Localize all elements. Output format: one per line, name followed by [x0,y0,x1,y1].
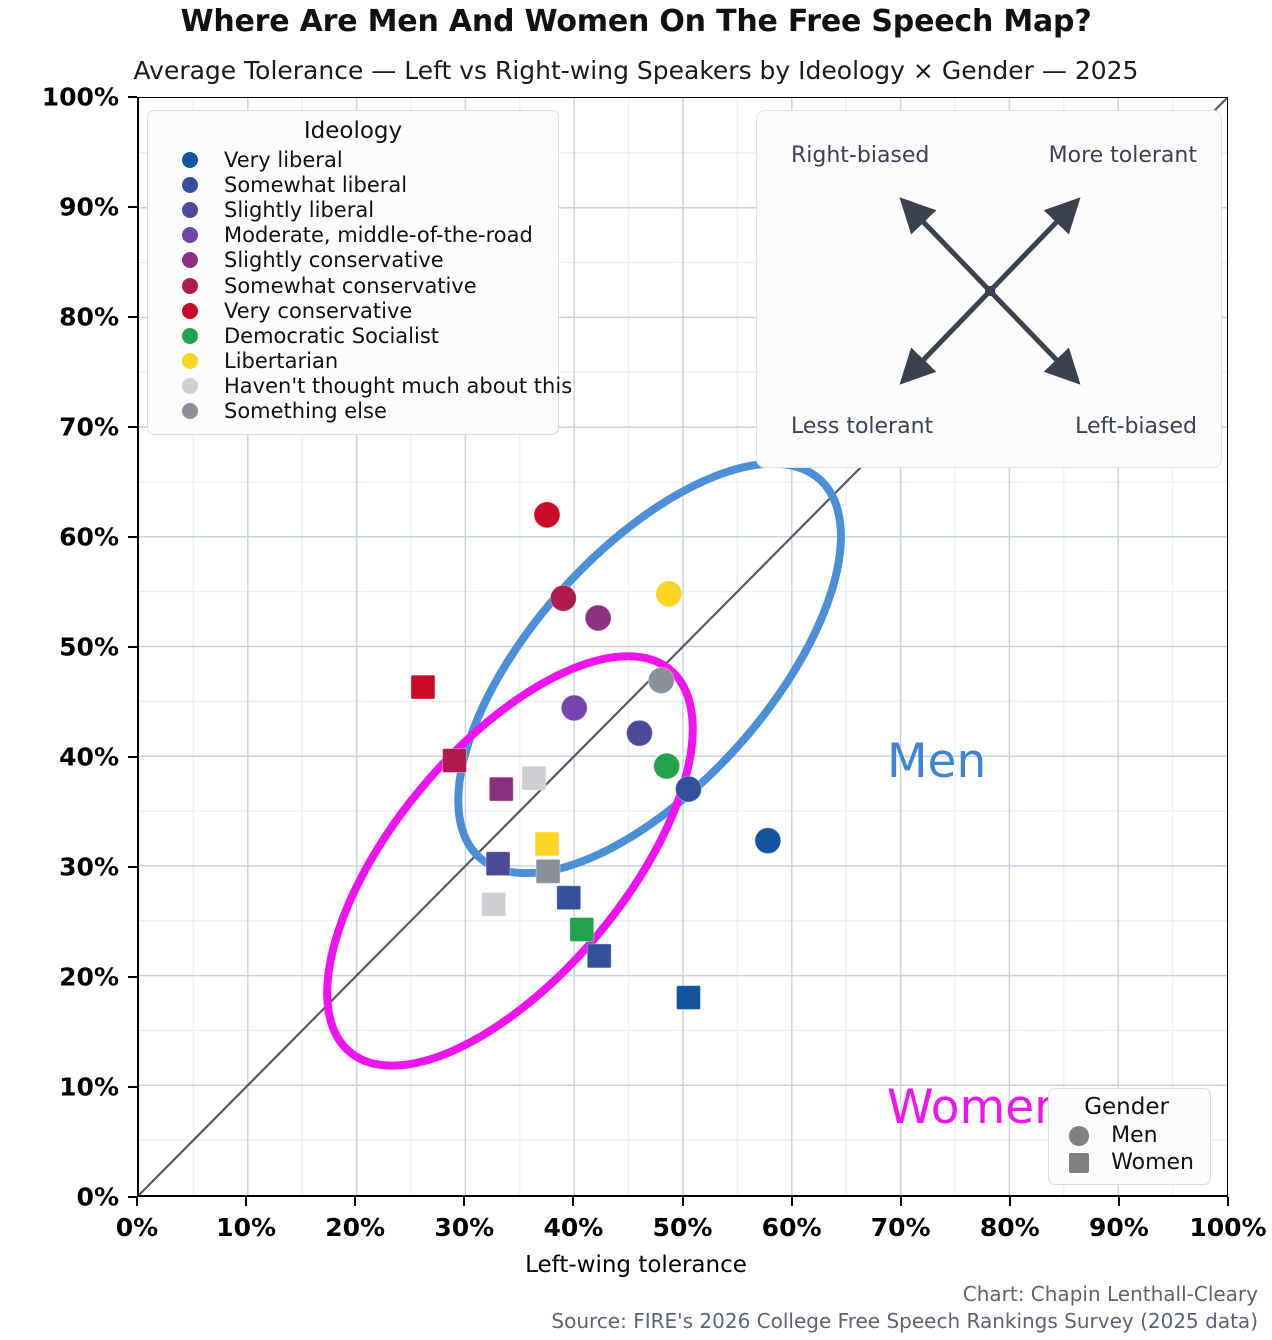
data-point-women[interactable] [443,749,467,773]
legend-ideology-item-label: Libertarian [224,349,338,373]
legend-ideology[interactable]: Ideology Very liberalSomewhat liberalSli… [147,110,559,435]
y-axis-tick-mark [128,646,137,648]
data-point-women[interactable] [522,766,546,790]
x-axis-tick-label: 20% [295,1213,415,1242]
y-axis-tick-mark [128,206,137,208]
data-point-men[interactable] [648,668,674,694]
circle-marker-icon [182,278,198,294]
x-axis-tick-mark [354,1197,356,1206]
legend-ideology-item[interactable]: Very conservative [158,298,548,323]
legend-ideology-item[interactable]: Slightly liberal [158,197,548,222]
data-point-men[interactable] [627,720,653,746]
y-axis-tick-label: 10% [0,1073,119,1102]
legend-ideology-item-label: Democratic Socialist [224,324,439,348]
y-axis-tick-mark [128,976,137,978]
legend-ideology-item-label: Somewhat liberal [224,173,407,197]
data-point-men[interactable] [675,776,701,802]
y-axis-tick-mark [128,866,137,868]
x-axis-tick-label: 30% [404,1213,524,1242]
legend-gender-men-label: Men [1111,1123,1157,1148]
legend-ideology-item-label: Something else [224,399,387,423]
data-point-women[interactable] [587,944,611,968]
circle-marker-icon [182,227,198,243]
x-axis-tick-mark [572,1197,574,1206]
y-axis-tick-label: 0% [0,1183,119,1212]
data-point-men[interactable] [656,581,682,607]
annotation-women-label: Women [887,1080,1064,1135]
data-point-women[interactable] [535,832,559,856]
legend-ideology-item[interactable]: Libertarian [158,349,548,374]
x-axis-tick-mark [245,1197,247,1206]
chart-subtitle: Average Tolerance — Left vs Right-wing S… [0,56,1272,85]
x-axis-tick-mark [900,1197,902,1206]
legend-ideology-title: Ideology [158,118,548,144]
data-point-men[interactable] [654,753,680,779]
legend-ideology-item-label: Very liberal [224,148,343,172]
circle-marker-icon [182,202,198,218]
y-axis-tick-mark [128,316,137,318]
legend-ideology-item-label: Moderate, middle-of-the-road [224,223,533,247]
legend-ideology-item-label: Slightly conservative [224,248,444,272]
y-axis-tick-mark [128,1086,137,1088]
y-axis-tick-mark [128,96,137,98]
data-point-men[interactable] [561,695,587,721]
x-axis-tick-mark [682,1197,684,1206]
y-axis-tick-mark [128,426,137,428]
legend-ideology-item-label: Very conservative [224,299,412,323]
circle-marker-icon [182,177,198,193]
y-axis-tick-mark [128,756,137,758]
x-axis-tick-mark [1009,1197,1011,1206]
y-axis-tick-label: 40% [0,743,119,772]
y-axis-tick-label: 30% [0,853,119,882]
compass-arrows-icon [757,111,1223,469]
legend-ideology-item-label: Somewhat conservative [224,274,477,298]
page-title: Where Are Men And Women On The Free Spee… [0,4,1272,39]
circle-marker-icon [182,403,198,419]
x-axis-tick-mark [1118,1197,1120,1206]
x-axis-tick-mark [463,1197,465,1206]
y-axis-tick-label: 60% [0,523,119,552]
plot-area: Ideology Very liberalSomewhat liberalSli… [137,97,1228,1197]
footer-source: Source: FIRE's 2026 College Free Speech … [0,1308,1258,1334]
legend-ideology-item[interactable]: Very liberal [158,147,548,172]
data-point-men[interactable] [585,605,611,631]
x-axis-tick-label: 0% [77,1213,197,1242]
data-point-men[interactable] [534,502,560,528]
x-axis-tick-mark [136,1197,138,1206]
x-axis-title: Left-wing tolerance [0,1252,1272,1278]
footer: Chart: Chapin Lenthall-Cleary Source: FI… [0,1281,1272,1334]
y-axis-tick-label: 20% [0,963,119,992]
legend-ideology-item-label: Slightly liberal [224,198,374,222]
circle-marker-icon [182,378,198,394]
legend-gender-women-label: Women [1111,1150,1194,1175]
legend-gender-item-women[interactable]: Women [1059,1149,1194,1176]
legend-ideology-item[interactable]: Somewhat liberal [158,172,548,197]
data-point-women[interactable] [486,852,510,876]
circle-marker-icon [182,303,198,319]
data-point-women[interactable] [411,675,435,699]
square-marker-icon [1069,1153,1089,1173]
legend-gender[interactable]: Gender Men Women [1048,1088,1211,1185]
legend-ideology-item[interactable]: Democratic Socialist [158,323,548,348]
data-point-women[interactable] [676,986,700,1010]
y-axis-tick-label: 50% [0,633,119,662]
x-axis-tick-label: 50% [623,1213,743,1242]
legend-ideology-item[interactable]: Moderate, middle-of-the-road [158,223,548,248]
circle-marker-icon [1069,1126,1089,1146]
data-point-women[interactable] [570,918,594,942]
x-axis-tick-mark [791,1197,793,1206]
circle-marker-icon [182,328,198,344]
data-point-men[interactable] [550,585,576,611]
legend-gender-title: Gender [1059,1094,1194,1120]
x-axis-tick-label: 10% [186,1213,306,1242]
y-axis-tick-mark [128,536,137,538]
legend-ideology-item[interactable]: Something else [158,399,548,424]
data-point-men[interactable] [755,828,781,854]
x-axis-tick-label: 70% [841,1213,961,1242]
circle-marker-icon [182,353,198,369]
x-axis-tick-label: 90% [1059,1213,1179,1242]
x-axis-tick-label: 100% [1168,1213,1272,1242]
legend-ideology-item[interactable]: Somewhat conservative [158,273,548,298]
data-point-women[interactable] [482,892,506,916]
y-axis-tick-label: 90% [0,193,119,222]
legend-ideology-item[interactable]: Haven't thought much about this [158,374,548,399]
legend-ideology-item[interactable]: Slightly conservative [158,248,548,273]
x-axis-tick-mark [1227,1197,1229,1206]
y-axis-tick-label: 80% [0,303,119,332]
annotation-men-label: Men [887,734,986,789]
circle-marker-icon [182,252,198,268]
data-point-women[interactable] [557,886,581,910]
y-axis-tick-label: 100% [0,83,119,112]
circle-marker-icon [182,152,198,168]
data-point-women[interactable] [489,777,513,801]
legend-gender-item-men[interactable]: Men [1059,1122,1194,1149]
x-axis-tick-label: 40% [513,1213,633,1242]
data-point-women[interactable] [536,859,560,883]
y-axis-tick-label: 70% [0,413,119,442]
x-axis-tick-label: 60% [732,1213,852,1242]
orientation-compass-box: Right-biased More tolerant Less tolerant… [756,110,1222,468]
cluster-ellipses [262,401,907,1126]
x-axis-tick-label: 80% [950,1213,1070,1242]
legend-ideology-item-label: Haven't thought much about this [224,374,572,398]
footer-credit: Chart: Chapin Lenthall-Cleary [0,1281,1258,1307]
